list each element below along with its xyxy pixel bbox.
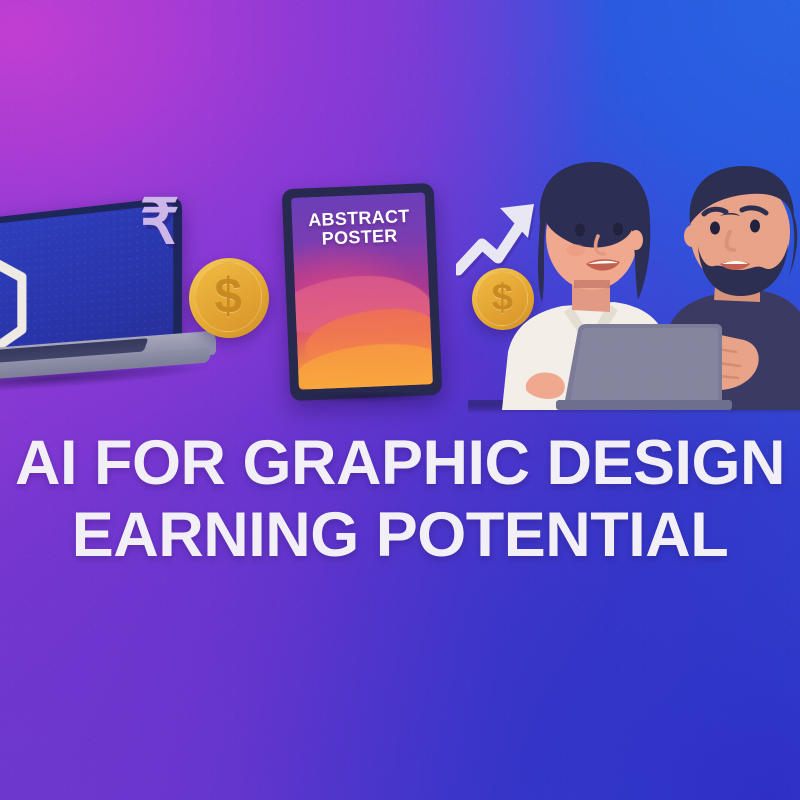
dollar-coin-icon: $ [189,258,269,338]
front-laptop [556,324,732,410]
laptop-base [0,342,216,392]
coin-dollar-symbol: $ [214,272,242,322]
poster-title: ABSTRACT POSTER [292,206,427,250]
ai-logo-text: AI [0,279,3,334]
tablet-shadow [290,392,438,403]
tablet-screen: ABSTRACT POSTER [291,192,433,389]
rupee-icon: ₹ [140,192,179,254]
people-illustration [468,160,800,410]
poster-title-line-2: POSTER [321,226,398,249]
headline: AI FOR GRAPHIC DESIGN EARNING POTENTIAL [0,432,800,567]
ai-hexagon-icon: AI [0,240,38,355]
coin-face: $ [195,262,262,332]
promo-banner: AI ₹ $ ABSTRACT POSTER [0,0,800,800]
headline-line-1: AI FOR GRAPHIC DESIGN [0,432,800,494]
tablet-illustration: ABSTRACT POSTER [282,183,443,401]
headline-line-2: EARNING POTENTIAL [0,504,800,566]
